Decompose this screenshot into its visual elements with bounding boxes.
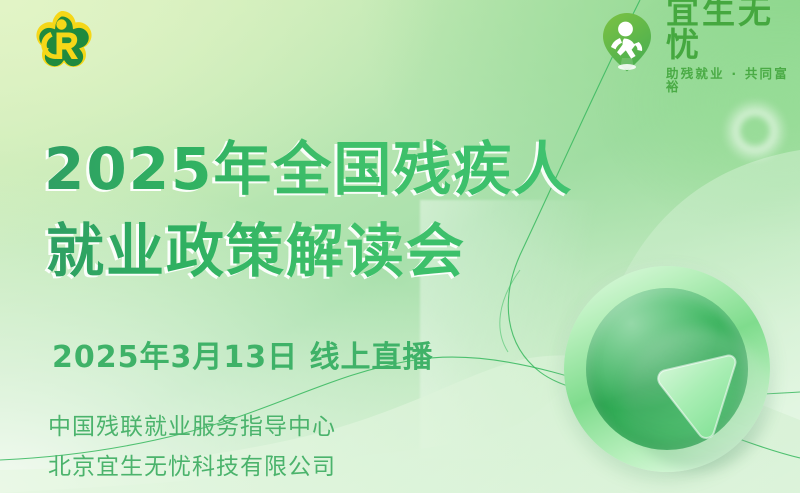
ysw-brand-name: 宜生无忧 <box>666 0 800 61</box>
organizer-block: 中国残联就业服务指导中心 北京宜生无忧科技有限公司 <box>48 408 336 487</box>
cdpf-flower-emblem-icon <box>26 8 98 80</box>
ysw-brand-tagline: 助残就业 · 共同富裕 <box>666 68 800 93</box>
location-pin-person-icon <box>598 11 656 77</box>
organizer-line-2: 北京宜生无忧科技有限公司 <box>48 448 336 488</box>
title-line-1: 2025年全国残疾人 <box>44 128 664 210</box>
decorative-bubble-icon <box>722 98 788 164</box>
play-button-graphic[interactable] <box>556 258 778 480</box>
ysw-brand-lockup: 宜生无忧 助残就业 · 共同富裕 <box>598 8 800 80</box>
organizer-line-1: 中国残联就业服务指导中心 <box>48 408 336 448</box>
event-poster: 宜生无忧 助残就业 · 共同富裕 2025年全国残疾人 就业政策解读会 2025… <box>0 0 800 493</box>
play-icon <box>642 340 762 460</box>
event-date-line: 2025年3月13日 线上直播 <box>52 332 434 376</box>
play-button-disc <box>586 288 748 450</box>
